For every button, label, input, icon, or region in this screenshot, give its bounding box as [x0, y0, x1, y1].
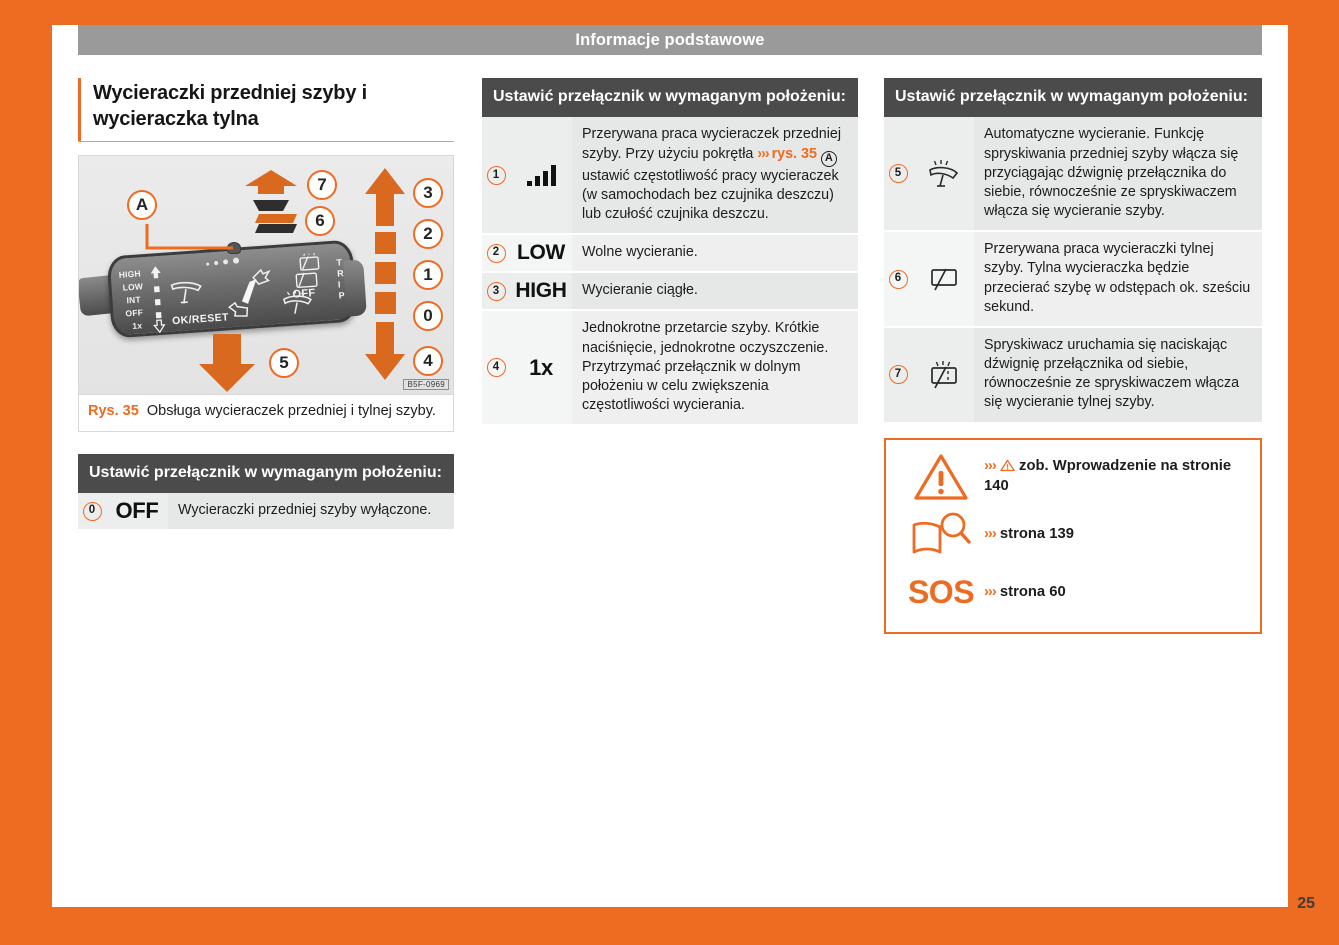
- callout-2: 2: [413, 219, 443, 249]
- row-text: Przerywana praca wycieraczek przedniej s…: [572, 117, 858, 233]
- row-text: Spryskiwacz uruchamia się naciskając dźw…: [974, 328, 1262, 422]
- callout-6: 6: [305, 206, 335, 236]
- running-head: Informacje podstawowe: [78, 25, 1262, 55]
- callout-7: 7: [307, 170, 337, 200]
- reference-row-manual: ››› strona 139: [898, 506, 1248, 564]
- row-number-badge: 5: [889, 164, 908, 183]
- reference-box: ››› zob. Wprowadzenie na stronie 140: [884, 438, 1262, 634]
- front-washer-icon: [926, 159, 960, 189]
- figure-caption-label: Rys. 35: [88, 403, 139, 419]
- row-text: Wolne wycieranie.: [572, 235, 858, 271]
- callout-a: A: [127, 190, 157, 220]
- warning-triangle-icon: [1000, 459, 1015, 472]
- off-word-icon: OFF: [115, 498, 158, 524]
- row-number-badge: 7: [889, 365, 908, 384]
- table-mid: Ustawić przełącznik w wymaganym położeni…: [482, 78, 858, 424]
- interval-bars-icon: [527, 164, 556, 186]
- lever-label-high: HIGH: [118, 268, 141, 280]
- callout-4: 4: [413, 346, 443, 376]
- figure-35: HIGH LOW INT OFF 1x OK/RESET: [78, 155, 454, 432]
- front-wiper-icon: [169, 279, 205, 307]
- single-wipe-word-icon: 1x: [529, 355, 553, 381]
- row-text-post: ustawić częstotliwość pracy wycieraczek …: [582, 168, 839, 222]
- reference-icon-cell: SOS: [898, 574, 984, 611]
- callout-0: 0: [413, 301, 443, 331]
- sos-icon: SOS: [908, 574, 974, 611]
- table-mid-header: Ustawić przełącznik w wymaganym położeni…: [482, 78, 858, 117]
- row-number-cell: 2: [482, 235, 510, 271]
- figure-reference: rys. 35: [772, 146, 817, 162]
- row-icon-cell: HIGH: [510, 273, 572, 309]
- book-magnifier-icon: [910, 512, 972, 558]
- table-right: Ustawić przełącznik w wymaganym położeni…: [884, 78, 1262, 422]
- reference-text: ››› strona 139: [984, 525, 1248, 545]
- page-number: 25: [1297, 895, 1315, 913]
- row-number-cell: 1: [482, 117, 510, 233]
- table-row: 3 HIGH Wycieranie ciągłe.: [482, 271, 858, 309]
- row-number-badge: 3: [487, 282, 506, 301]
- chevron-icon: ›››: [984, 584, 996, 600]
- column-right: Ustawić przełącznik w wymaganym położeni…: [884, 78, 1262, 634]
- chevron-icon: ›››: [757, 146, 771, 162]
- table-left-header: Ustawić przełącznik w wymaganym położeni…: [78, 454, 454, 493]
- table-row: 6 Przerywana praca wycieraczki tylnej sz…: [884, 230, 1262, 326]
- row-icon-cell: LOW: [510, 235, 572, 271]
- row-number-cell: 3: [482, 273, 510, 309]
- row-number-cell: 5: [884, 117, 912, 230]
- lever-label-1x: 1x: [132, 320, 143, 331]
- column-left: Wycieraczki przedniej szyby i wycieraczk…: [78, 78, 454, 529]
- reference-text: ››› strona 60: [984, 583, 1248, 603]
- reference-label: strona 60: [1000, 584, 1066, 600]
- manual-page: Informacje podstawowe 25 Wycieraczki prz…: [0, 0, 1339, 945]
- row-text: Wycieranie ciągłe.: [572, 273, 858, 309]
- row-number-cell: 6: [884, 232, 912, 326]
- table-row: 4 1x Jednokrotne przetarcie szyby. Krótk…: [482, 309, 858, 424]
- wiper-stalk-positions-icon: [363, 168, 407, 380]
- running-head-title: Informacje podstawowe: [575, 31, 764, 50]
- reference-icon-cell: [898, 452, 984, 502]
- lever-label-int: INT: [126, 294, 141, 305]
- heading-rule: [78, 141, 454, 142]
- high-word-icon: HIGH: [515, 279, 566, 303]
- table-row: 7 Spryskiwacz uruchamia się naciskając d…: [884, 326, 1262, 422]
- reference-label: zob. Wprowadzenie na stronie 140: [984, 458, 1231, 494]
- table-row: 2 LOW Wolne wycieranie.: [482, 233, 858, 271]
- row-text: Automatyczne wycieranie. Funkcję spryski…: [974, 117, 1262, 230]
- lever-dot-1: [206, 263, 209, 266]
- reference-circle-a: A: [821, 151, 837, 167]
- row-text: Jednokrotne przetarcie szyby. Krótkie na…: [572, 311, 858, 424]
- warning-triangle-icon: [913, 452, 969, 502]
- row-number-badge: 2: [487, 244, 506, 263]
- row-icon-cell: OFF: [106, 493, 168, 529]
- row-number-cell: 0: [78, 493, 106, 529]
- figure-caption-text: Obsługa wycieraczek przedniej i tylnej s…: [147, 403, 436, 419]
- lever-label-low: LOW: [122, 281, 143, 292]
- rear-wiper-icon: [926, 264, 960, 294]
- table-row: 1 Przerywana praca wycieraczek przedniej…: [482, 117, 858, 233]
- lever-ok-reset-label: OK/RESET: [172, 311, 230, 327]
- column-middle: Ustawić przełącznik w wymaganym położeni…: [482, 78, 858, 424]
- table-left: Ustawić przełącznik w wymaganym położeni…: [78, 454, 454, 530]
- row-number-badge: 1: [487, 166, 506, 185]
- table-right-header: Ustawić przełącznik w wymaganym położeni…: [884, 78, 1262, 117]
- chevron-icon: ›››: [984, 458, 996, 474]
- reference-row-warning: ››› zob. Wprowadzenie na stronie 140: [898, 448, 1248, 506]
- callout-1: 1: [413, 260, 443, 290]
- row-icon-cell: [912, 328, 974, 422]
- lever-label-off: OFF: [125, 307, 143, 318]
- table-row: 5 Automatyczne wycieranie. Funkcję sprys…: [884, 117, 1262, 230]
- row-number-badge: 4: [487, 358, 506, 377]
- row-icon-cell: [912, 232, 974, 326]
- front-washer-icon: [280, 289, 316, 317]
- row-icon-cell: [510, 117, 572, 233]
- lever-push-bar-icon: [255, 212, 301, 234]
- arrow-up-pull-icon: [237, 170, 305, 212]
- row-text: Wycieraczki przedniej szyby wyłączone.: [168, 493, 454, 529]
- low-word-icon: LOW: [517, 241, 565, 265]
- table-row: 0 OFF Wycieraczki przedniej szyby wyłącz…: [78, 493, 454, 529]
- figure-caption: Rys. 35 Obsługa wycieraczek przedniej i …: [79, 394, 453, 431]
- reference-text: ››› zob. Wprowadzenie na stronie 140: [984, 457, 1248, 496]
- reference-row-sos: SOS ››› strona 60: [898, 564, 1248, 622]
- lever-scale-icon: [148, 264, 167, 335]
- callout-a-leader-line: [141, 218, 251, 262]
- row-number-badge: 0: [83, 502, 102, 521]
- section-heading: Wycieraczki przedniej szyby i wycieraczk…: [78, 78, 454, 141]
- arrow-down-push-icon: [197, 334, 257, 392]
- figure-image-code: B5F-0969: [403, 379, 449, 390]
- row-number-cell: 4: [482, 311, 510, 424]
- page-title: Wycieraczki przedniej szyby i wycieraczk…: [93, 80, 454, 132]
- callout-5: 5: [269, 348, 299, 378]
- row-number-cell: 7: [884, 328, 912, 422]
- callout-3: 3: [413, 178, 443, 208]
- row-number-badge: 6: [889, 270, 908, 289]
- rear-washer-icon: [926, 359, 960, 391]
- row-icon-cell: [912, 117, 974, 230]
- reference-label: strona 139: [1000, 526, 1074, 542]
- row-icon-cell: 1x: [510, 311, 572, 424]
- row-text: Przerywana praca wycieraczki tylnej szyb…: [974, 232, 1262, 326]
- chevron-icon: ›››: [984, 526, 996, 542]
- figure-image: HIGH LOW INT OFF 1x OK/RESET: [79, 156, 453, 394]
- reference-icon-cell: [898, 512, 984, 558]
